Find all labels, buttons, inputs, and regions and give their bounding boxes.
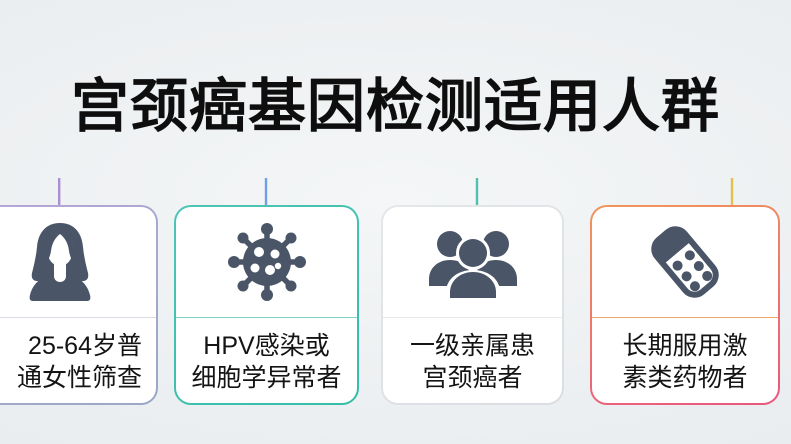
card-row: 25-64岁普 通女性筛查 (0, 205, 791, 405)
card-2-icon-zone (176, 207, 357, 317)
card-4-text-line-2: 素类药物者 (622, 362, 747, 394)
card-2-text-line-1: HPV感染或 (203, 330, 329, 362)
card-4-text-line-1: 长期服用激 (622, 330, 747, 362)
card-hpv-infection[interactable]: HPV感染或 细胞学异常者 (174, 205, 359, 405)
card-3-text: 一级亲属患 宫颈癌者 (383, 318, 562, 403)
card-woman-screening[interactable]: 25-64岁普 通女性筛查 (0, 205, 158, 405)
card-family-history[interactable]: 一级亲属患 宫颈癌者 (381, 205, 564, 405)
card-1-text-line-2: 通女性筛查 (17, 362, 142, 394)
card-4-icon-zone (592, 207, 778, 317)
virus-icon (226, 221, 308, 303)
card-3-text-line-1: 一级亲属患 (410, 330, 535, 362)
card-2-text: HPV感染或 细胞学异常者 (176, 318, 357, 403)
card-1-icon-zone (0, 207, 156, 317)
card-3-text-line-2: 宫颈癌者 (422, 362, 522, 394)
card-2-text-line-2: 细胞学异常者 (191, 362, 341, 394)
card-4-text: 长期服用激 素类药物者 (592, 318, 778, 403)
card-3-icon-zone (383, 207, 562, 317)
card-1-text-line-1: 25-64岁普 (28, 330, 142, 362)
woman-silhouette-icon (21, 221, 99, 303)
card-1-text: 25-64岁普 通女性筛查 (0, 318, 156, 403)
pill-blister-pack-icon (645, 222, 725, 302)
infographic-canvas: 宫颈癌基因检测适用人群 (0, 0, 791, 444)
card-hormone-medication[interactable]: 长期服用激 素类药物者 (590, 205, 780, 405)
page-title: 宫颈癌基因检测适用人群 (0, 74, 791, 140)
group-people-icon (427, 224, 519, 300)
